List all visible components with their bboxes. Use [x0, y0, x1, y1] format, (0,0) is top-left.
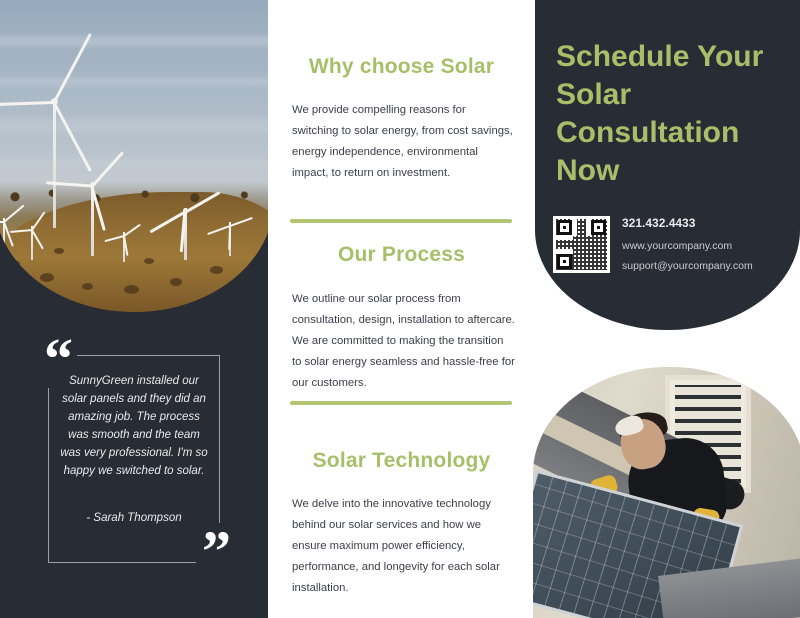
section-divider: [290, 219, 512, 223]
section-title-solar-technology: Solar Technology: [268, 449, 535, 473]
testimonial-text: SunnyGreen installed our solar panels an…: [60, 372, 208, 480]
sky-haze-band: [0, 160, 268, 167]
quote-close-icon: ”: [196, 523, 235, 581]
qr-finder-pattern: [591, 220, 606, 235]
brochure-page: “ ” SunnyGreen installed our solar panel…: [0, 0, 800, 618]
contact-email[interactable]: support@yourcompany.com: [622, 260, 792, 272]
qr-finder-pattern: [557, 220, 572, 235]
solar-panel-installer-photo: [533, 367, 800, 618]
section-title-why-choose-solar: Why choose Solar: [268, 55, 535, 79]
testimonial-author: - Sarah Thompson: [60, 512, 208, 524]
turbine-mast: [53, 98, 56, 228]
sky-haze-band: [0, 36, 268, 46]
scrub-bush: [40, 273, 54, 282]
wind-turbine: [46, 98, 62, 228]
section-body-why-choose-solar: We provide compelling reasons for switch…: [292, 100, 515, 184]
contact-details: 321.432.4433 www.yourcompany.com support…: [622, 216, 792, 280]
wind-turbine: [120, 232, 128, 262]
wind-turbine-farm-photo: [0, 0, 268, 312]
wind-turbine: [0, 218, 8, 256]
scrub-bush: [124, 285, 139, 294]
turbine-blade: [3, 205, 24, 223]
sky-haze-band: [0, 78, 268, 86]
section-body-solar-technology: We delve into the innovative technology …: [292, 494, 515, 599]
section-body-our-process: We outline our solar process from consul…: [292, 289, 515, 394]
qr-code[interactable]: [553, 216, 610, 273]
wind-turbine: [86, 182, 98, 256]
turbine-blade: [0, 101, 54, 107]
turbine-blade: [91, 151, 124, 187]
contact-website[interactable]: www.yourcompany.com: [622, 240, 792, 252]
wind-turbine: [180, 208, 190, 260]
scrub-bush: [170, 278, 182, 286]
scrub-bush: [210, 266, 223, 274]
contact-phone[interactable]: 321.432.4433: [622, 216, 792, 230]
turbine-blade: [228, 226, 231, 250]
qr-quiet-zone: [572, 219, 577, 236]
sky-haze-band: [0, 120, 268, 132]
cover-headline: Schedule Your Solar Consultation Now: [556, 38, 786, 190]
middle-panel: Why choose Solar We provide compelling r…: [268, 0, 535, 618]
qr-quiet-zone: [556, 235, 573, 240]
qr-finder-pattern: [557, 254, 572, 269]
scrub-bush: [144, 258, 154, 264]
section-divider: [290, 401, 512, 405]
left-panel: “ ” SunnyGreen installed our solar panel…: [0, 0, 268, 618]
wind-turbine: [226, 222, 234, 256]
section-title-our-process: Our Process: [268, 243, 535, 267]
scrub-bush: [8, 260, 20, 268]
qr-code-matrix: [556, 219, 607, 270]
wind-turbine: [28, 226, 36, 260]
scrub-bush: [82, 283, 93, 290]
scrub-bush: [54, 248, 64, 254]
